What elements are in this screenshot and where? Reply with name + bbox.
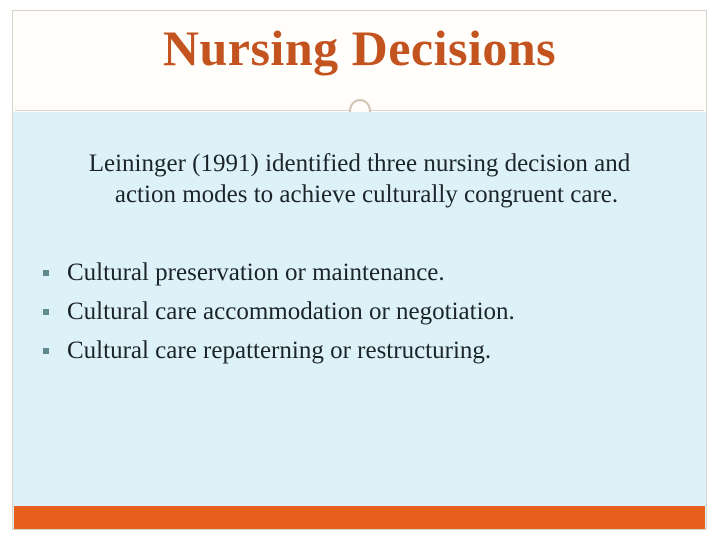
list-item-label: Cultural care accommodation or negotiati… (67, 298, 515, 325)
intro-line-1: Leininger (1991) identified three nursin… (89, 150, 631, 177)
intro-line-2: action modes to achieve culturally congr… (31, 179, 688, 210)
page-title: Nursing Decisions (13, 18, 706, 78)
bullet-square-icon (43, 309, 49, 315)
title-band: Nursing Decisions (13, 11, 706, 112)
footer-accent-bar (14, 506, 705, 529)
list-item: Cultural care accommodation or negotiati… (35, 292, 688, 331)
bullet-square-icon (43, 270, 49, 276)
bullet-list: Cultural preservation or maintenance. Cu… (35, 253, 688, 370)
list-item: Cultural care repatterning or restructur… (35, 331, 688, 370)
list-item-label: Cultural care repatterning or restructur… (67, 337, 491, 364)
slide-frame: Nursing Decisions Leininger (1991) ident… (12, 10, 707, 530)
bullet-square-icon (43, 348, 49, 354)
slide-body: Leininger (1991) identified three nursin… (13, 112, 706, 529)
list-item-label: Cultural preservation or maintenance. (67, 259, 445, 286)
intro-paragraph: Leininger (1991) identified three nursin… (31, 148, 688, 210)
list-item: Cultural preservation or maintenance. (35, 253, 688, 292)
